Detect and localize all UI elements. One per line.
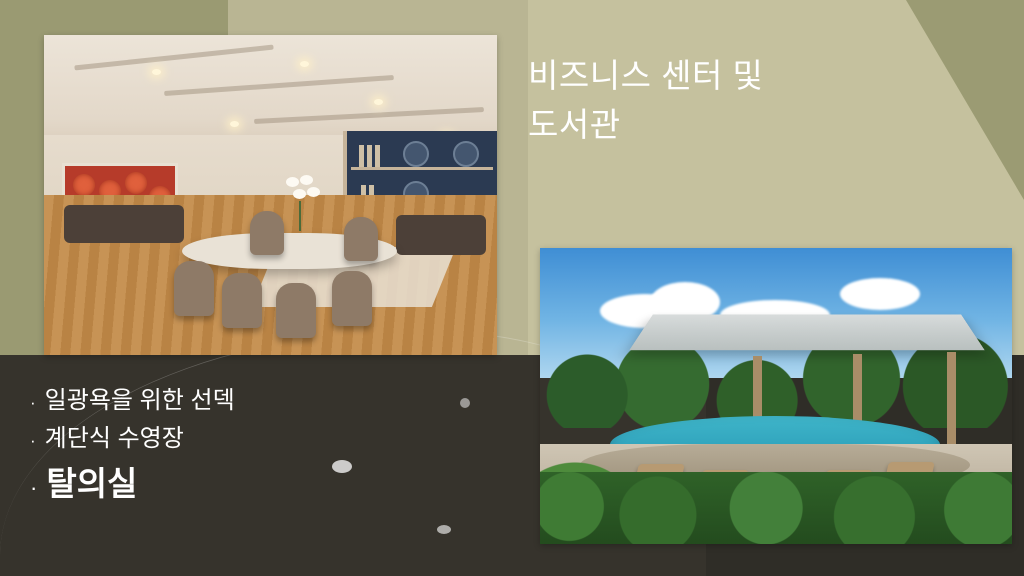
bullet-marker-icon: · <box>30 477 37 499</box>
bullet-text: 탈의실 <box>46 462 137 507</box>
list-item: · 탈의실 <box>30 462 460 507</box>
bullet-list: · 일광욕을 위한 선덱 · 계단식 수영장 · 탈의실 <box>30 385 460 512</box>
chair <box>174 261 214 316</box>
list-item: · 일광욕을 위한 선덱 <box>30 385 460 417</box>
slide-title: 비즈니스 센터 및 도서관 <box>528 52 958 150</box>
sofa-right <box>396 215 486 255</box>
pergola-canopy <box>629 314 984 350</box>
orchid-plant <box>280 175 320 235</box>
background-dot-1 <box>460 398 470 408</box>
list-item: · 계단식 수영장 <box>30 423 460 455</box>
bullet-marker-icon: · <box>30 432 36 449</box>
bullet-text: 계단식 수영장 <box>45 423 184 455</box>
chair <box>250 211 284 255</box>
sofa <box>64 205 184 243</box>
background-dot-3 <box>437 525 451 534</box>
chair <box>276 283 316 338</box>
interior-lounge-photo <box>44 35 497 355</box>
chair <box>344 217 378 261</box>
chair <box>332 271 372 326</box>
presentation-slide: 비즈니스 센터 및 도서관 · 일광욕을 위한 선덱 · 계단식 수영장 · 탈… <box>0 0 1024 576</box>
pool-deck-photo <box>540 248 1012 544</box>
hedge-row <box>540 472 1012 544</box>
interior-illustration <box>44 35 497 355</box>
bullet-marker-icon: · <box>30 394 36 411</box>
pool-illustration <box>540 248 1012 544</box>
chair <box>222 273 262 328</box>
bullet-text: 일광욕을 위한 선덱 <box>45 385 235 417</box>
